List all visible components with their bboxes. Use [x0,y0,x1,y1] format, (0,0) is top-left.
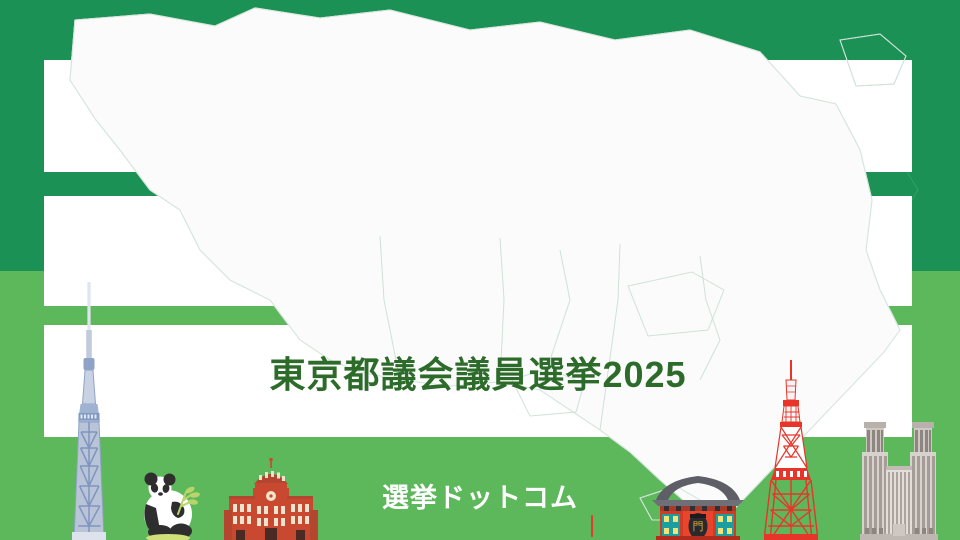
headline-line-2: 4人の経歴・政策まとめ [44,220,912,263]
title-band-2: 4人の経歴・政策まとめ [44,196,912,306]
senkyo-dotcom-logo: 選挙ドットコム [0,476,960,515]
headline-line-1: 昭島市（定数1）に立候補した [44,84,912,127]
thumbnail-canvas: 昭島市（定数1）に立候補した [0,0,960,540]
title-band-1: 昭島市（定数1）に立候補した [44,60,912,172]
svg-text:門: 門 [693,520,704,533]
